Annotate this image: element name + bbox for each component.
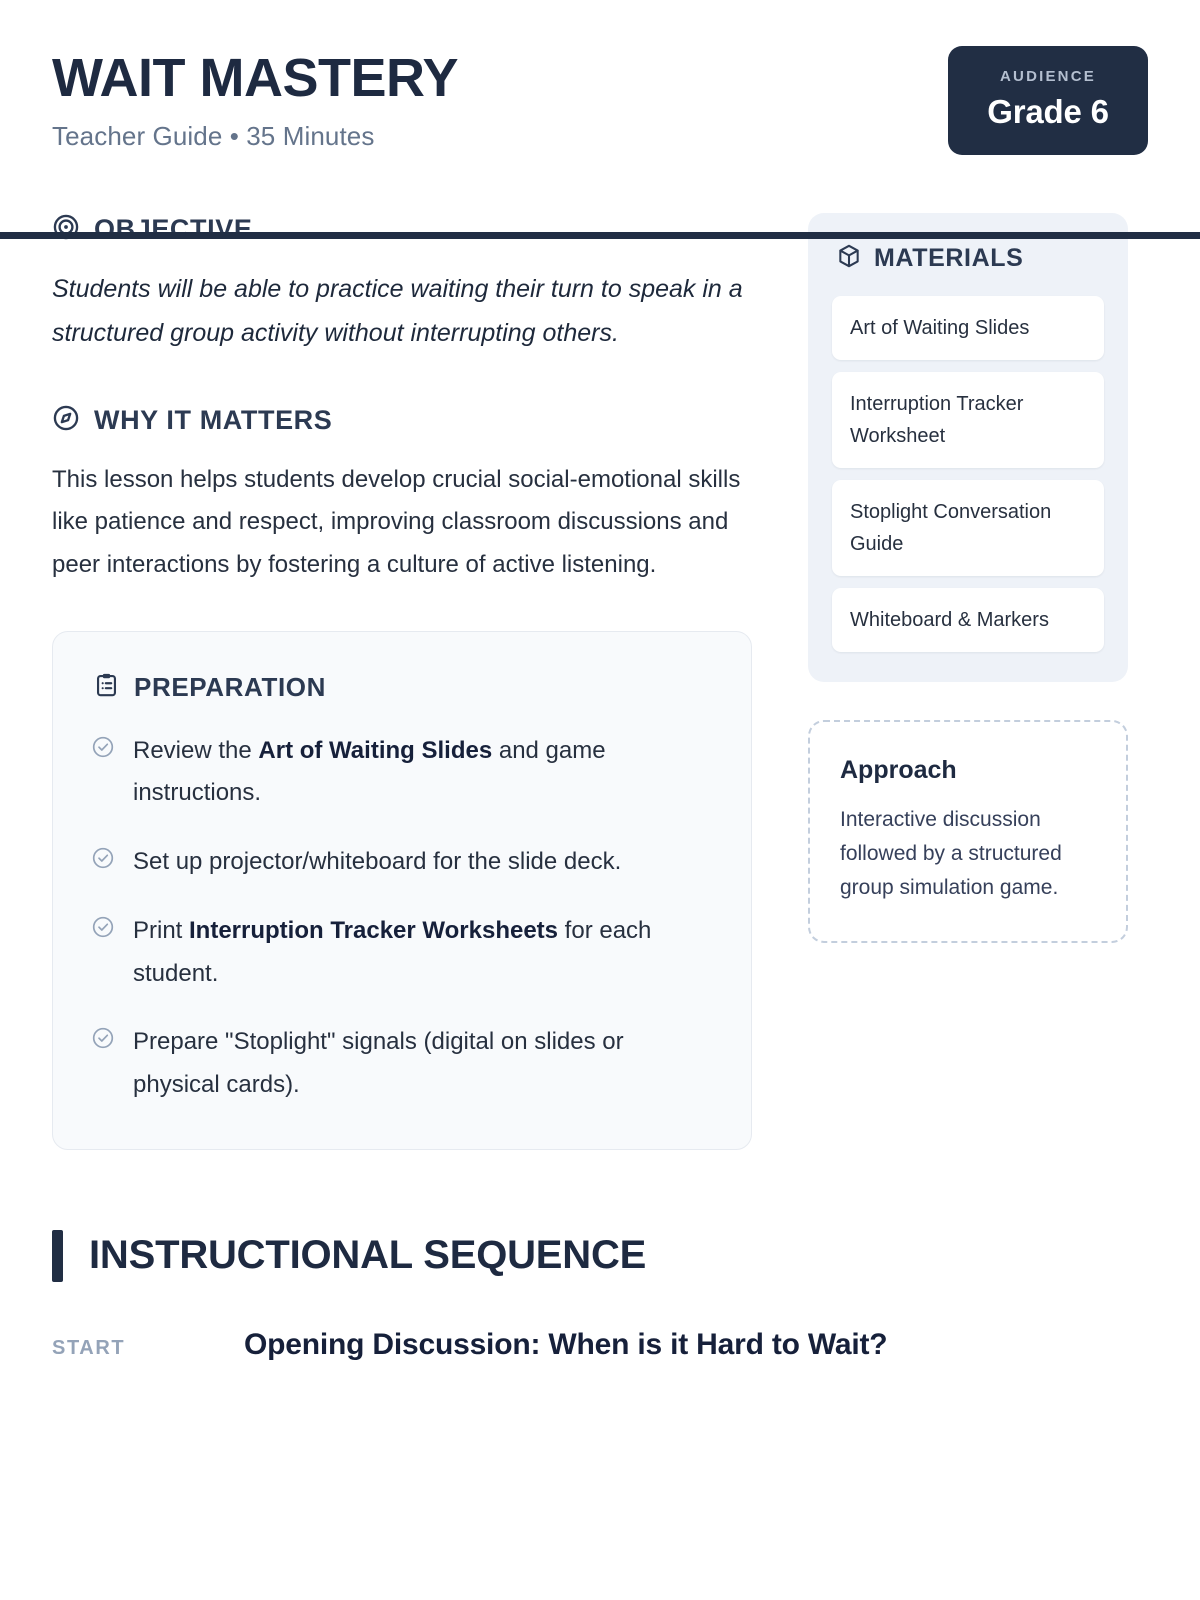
list-item-text: Prepare "Stoplight" signals (digital on … [133, 1021, 713, 1106]
sequence-row-name: Opening Discussion: When is it Hard to W… [244, 1328, 887, 1362]
instructional-sequence-heading-row: INSTRUCTIONAL SEQUENCE [52, 1230, 1148, 1282]
preparation-heading-row: PREPARATION [91, 672, 713, 704]
list-item-text: Print Interruption Tracker Worksheets fo… [133, 910, 713, 995]
lesson-plan-page: WAIT MASTERY Teacher Guide • 35 Minutes … [0, 0, 1200, 1600]
side-column: MATERIALS Art of Waiting Slides Interrup… [808, 213, 1128, 1150]
check-circle-icon [91, 915, 115, 944]
content-grid: OBJECTIVE Students will be able to pract… [52, 213, 1148, 1150]
package-icon [836, 243, 862, 274]
material-item: Stoplight Conversation Guide [832, 480, 1104, 576]
materials-heading-row: MATERIALS [832, 243, 1104, 274]
material-item: Interruption Tracker Worksheet [832, 372, 1104, 468]
preparation-heading: PREPARATION [134, 672, 326, 703]
why-heading: WHY IT MATTERS [94, 405, 332, 436]
check-circle-icon [91, 846, 115, 875]
target-icon [52, 213, 80, 246]
materials-list: Art of Waiting Slides Interruption Track… [832, 296, 1104, 652]
objective-heading: OBJECTIVE [94, 214, 252, 245]
list-item-text: Set up projector/whiteboard for the slid… [133, 841, 621, 884]
compass-icon [52, 404, 80, 437]
sequence-row-time: START [52, 1337, 200, 1360]
preparation-card: PREPARATION Review the Art of Waiting Sl… [52, 631, 752, 1150]
sequence-row: START Opening Discussion: When is it Har… [52, 1328, 1148, 1362]
audience-badge-label: AUDIENCE [974, 68, 1122, 85]
list-item: Print Interruption Tracker Worksheets fo… [91, 910, 713, 995]
list-item: Prepare "Stoplight" signals (digital on … [91, 1021, 713, 1106]
preparation-list: Review the Art of Waiting Slides and gam… [91, 730, 713, 1107]
materials-panel: MATERIALS Art of Waiting Slides Interrup… [808, 213, 1128, 682]
header-title-group: WAIT MASTERY Teacher Guide • 35 Minutes [52, 46, 458, 152]
materials-heading: MATERIALS [874, 244, 1023, 273]
why-text: This lesson helps students develop cruci… [52, 459, 752, 587]
approach-box: Approach Interactive discussion followed… [808, 720, 1128, 943]
check-circle-icon [91, 735, 115, 764]
instructional-sequence-heading: INSTRUCTIONAL SEQUENCE [89, 1233, 646, 1278]
accent-bar [52, 1230, 63, 1282]
list-item: Set up projector/whiteboard for the slid… [91, 841, 713, 884]
why-heading-row: WHY IT MATTERS [52, 404, 752, 437]
page-header: WAIT MASTERY Teacher Guide • 35 Minutes … [52, 0, 1148, 155]
list-item-text: Review the Art of Waiting Slides and gam… [133, 730, 713, 815]
approach-title: Approach [840, 756, 1096, 785]
objective-text: Students will be able to practice waitin… [52, 268, 752, 356]
why-it-matters-section: WHY IT MATTERS This lesson helps student… [52, 404, 752, 587]
list-item: Review the Art of Waiting Slides and gam… [91, 730, 713, 815]
page-title: WAIT MASTERY [52, 50, 458, 107]
page-subtitle: Teacher Guide • 35 Minutes [52, 121, 458, 152]
sequence-rows: START Opening Discussion: When is it Har… [52, 1328, 1148, 1362]
audience-badge-value: Grade 6 [974, 93, 1122, 131]
instructional-sequence-section: INSTRUCTIONAL SEQUENCE START Opening Dis… [52, 1230, 1148, 1362]
header-divider [0, 232, 1200, 239]
material-item: Whiteboard & Markers [832, 588, 1104, 652]
audience-badge: AUDIENCE Grade 6 [948, 46, 1148, 155]
approach-text: Interactive discussion followed by a str… [840, 803, 1096, 905]
main-column: OBJECTIVE Students will be able to pract… [52, 213, 752, 1150]
objective-heading-row: OBJECTIVE [52, 213, 752, 246]
clipboard-list-icon [93, 672, 120, 704]
material-item: Art of Waiting Slides [832, 296, 1104, 360]
check-circle-icon [91, 1026, 115, 1055]
